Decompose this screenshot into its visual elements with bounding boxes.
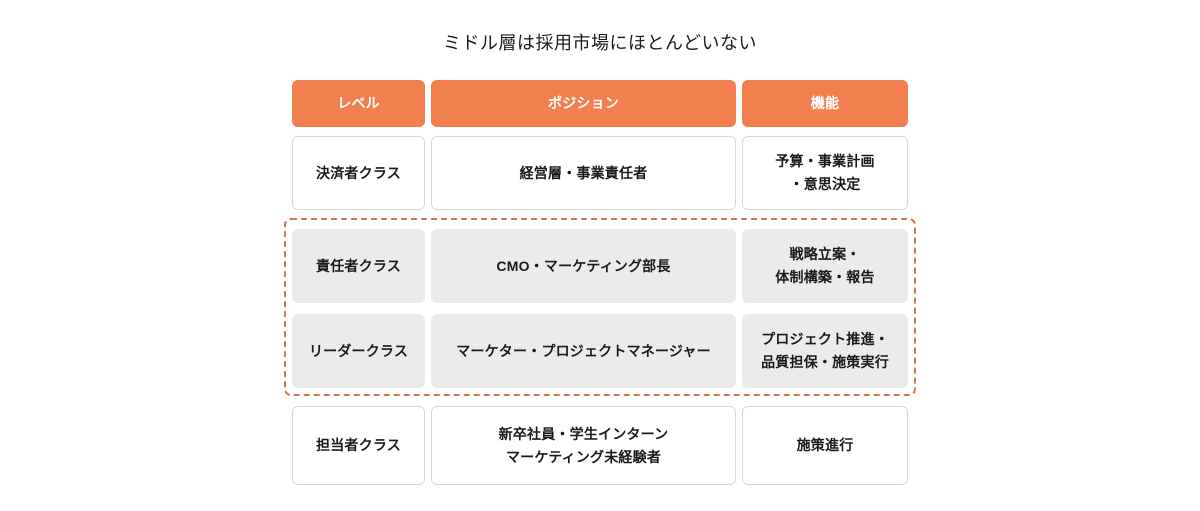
- row-level-label: 担当者クラス: [316, 434, 401, 457]
- row-function-cell: 施策進行: [742, 406, 908, 485]
- row-level-label: リーダークラス: [309, 340, 408, 363]
- levels-table: レベル ポジション 機能 決済者クラス 経営層・事業責任者 予算・事業計画 ・意…: [292, 80, 908, 485]
- row-position-cell: マーケター・プロジェクトマネージャー: [431, 314, 736, 388]
- header-cell-position: ポジション: [431, 80, 736, 127]
- row-position-cell: CMO・マーケティング部長: [431, 229, 736, 303]
- row-function-line1: 予算・事業計画: [775, 150, 874, 173]
- row-position-label: CMO・マーケティング部長: [496, 255, 670, 278]
- header-label-function: 機能: [811, 92, 839, 115]
- row-position-cell: 新卒社員・学生インターン マーケティング未経験者: [431, 406, 736, 485]
- row-level-cell: 決済者クラス: [292, 136, 425, 210]
- header-cell-function: 機能: [742, 80, 908, 127]
- row-position-line1: 新卒社員・学生インターン: [499, 423, 669, 446]
- row-function-line2: 品質担保・施策実行: [761, 351, 889, 374]
- header-label-position: ポジション: [548, 92, 619, 115]
- row-function-cell: プロジェクト推進・ 品質担保・施策実行: [742, 314, 908, 388]
- row-function-text: 予算・事業計画 ・意思決定: [775, 150, 874, 196]
- row-position-text: 新卒社員・学生インターン マーケティング未経験者: [499, 423, 669, 469]
- row-level-label: 責任者クラス: [316, 255, 401, 278]
- row-function-cell: 戦略立案・ 体制構築・報告: [742, 229, 908, 303]
- page-title: ミドル層は採用市場にほとんどいない: [0, 30, 1200, 56]
- header-cell-level: レベル: [292, 80, 425, 127]
- row-function-line2: ・意思決定: [775, 173, 874, 196]
- row-function-cell: 予算・事業計画 ・意思決定: [742, 136, 908, 210]
- row-function-line2: 体制構築・報告: [775, 266, 874, 289]
- row-level-cell: リーダークラス: [292, 314, 425, 388]
- row-function-text: 戦略立案・ 体制構築・報告: [775, 243, 874, 289]
- table-row: 担当者クラス 新卒社員・学生インターン マーケティング未経験者 施策進行: [292, 406, 908, 485]
- table-header-row: レベル ポジション 機能: [292, 80, 908, 127]
- row-level-cell: 担当者クラス: [292, 406, 425, 485]
- row-function-line1: プロジェクト推進・: [761, 328, 889, 351]
- row-position-label: マーケター・プロジェクトマネージャー: [456, 340, 711, 363]
- row-level-cell: 責任者クラス: [292, 229, 425, 303]
- row-function-line1: 戦略立案・: [775, 243, 874, 266]
- row-function-text: プロジェクト推進・ 品質担保・施策実行: [761, 328, 889, 374]
- row-position-line2: マーケティング未経験者: [499, 446, 669, 469]
- table-row: 責任者クラス CMO・マーケティング部長 戦略立案・ 体制構築・報告: [292, 229, 908, 303]
- row-position-label: 経営層・事業責任者: [520, 162, 648, 185]
- row-position-cell: 経営層・事業責任者: [431, 136, 736, 210]
- table-row: 決済者クラス 経営層・事業責任者 予算・事業計画 ・意思決定: [292, 136, 908, 210]
- table-row: リーダークラス マーケター・プロジェクトマネージャー プロジェクト推進・ 品質担…: [292, 314, 908, 388]
- header-label-level: レベル: [337, 92, 380, 115]
- infographic-canvas: ミドル層は採用市場にほとんどいない レベル ポジション 機能 決済者クラス 経営…: [0, 0, 1200, 511]
- row-level-label: 決済者クラス: [316, 162, 401, 185]
- row-function-label: 施策進行: [797, 434, 854, 457]
